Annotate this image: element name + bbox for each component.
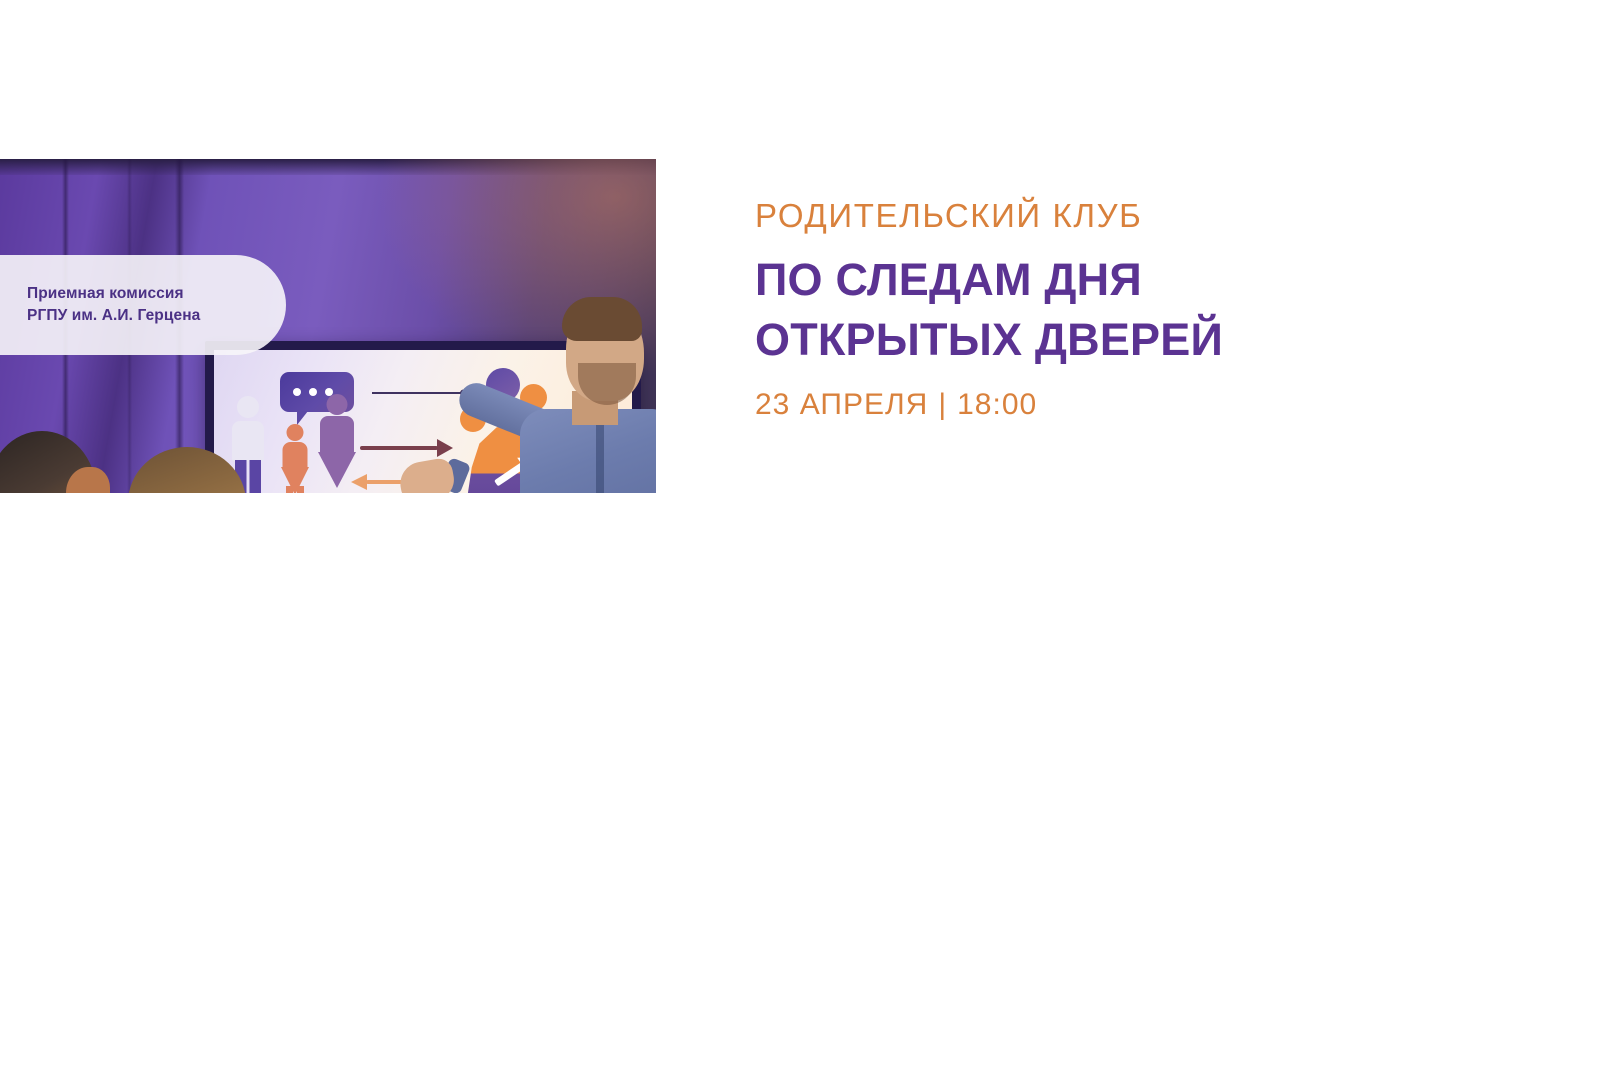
- presenter-shirt-placket: [596, 419, 604, 493]
- event-announcement-card: Приемная комиссия РГПУ им. А.И. Герцена …: [0, 0, 1608, 1080]
- event-title: ПО СЛЕДАМ ДНЯ ОТКРЫТЫХ ДВЕРЕЙ: [755, 250, 1455, 370]
- organization-badge: Приемная комиссия РГПУ им. А.И. Герцена: [0, 255, 286, 355]
- arrow-right-thin-icon: [372, 392, 464, 394]
- arrow-right-icon: [360, 446, 438, 450]
- event-date: 23 АПРЕЛЯ: [755, 388, 928, 421]
- event-datetime: 23 АПРЕЛЯ|18:00: [755, 386, 1455, 424]
- event-title-line-1: ПО СЛЕДАМ ДНЯ: [755, 250, 1455, 310]
- presenter-hair: [562, 297, 642, 341]
- announcement-text: РОДИТЕЛЬСКИЙ КЛУБ ПО СЛЕДАМ ДНЯ ОТКРЫТЫХ…: [755, 196, 1455, 424]
- child-figure-icon: [280, 424, 310, 493]
- badge-line-2: РГПУ им. А.И. Герцена: [27, 305, 286, 327]
- event-category-label: РОДИТЕЛЬСКИЙ КЛУБ: [755, 196, 1455, 236]
- datetime-separator: |: [928, 388, 957, 421]
- event-time: 18:00: [957, 388, 1037, 421]
- event-title-line-2: ОТКРЫТЫХ ДВЕРЕЙ: [755, 310, 1455, 370]
- event-photo: Приемная комиссия РГПУ им. А.И. Герцена: [0, 159, 656, 493]
- presenter-person: [476, 213, 656, 493]
- badge-line-1: Приемная комиссия: [27, 283, 286, 305]
